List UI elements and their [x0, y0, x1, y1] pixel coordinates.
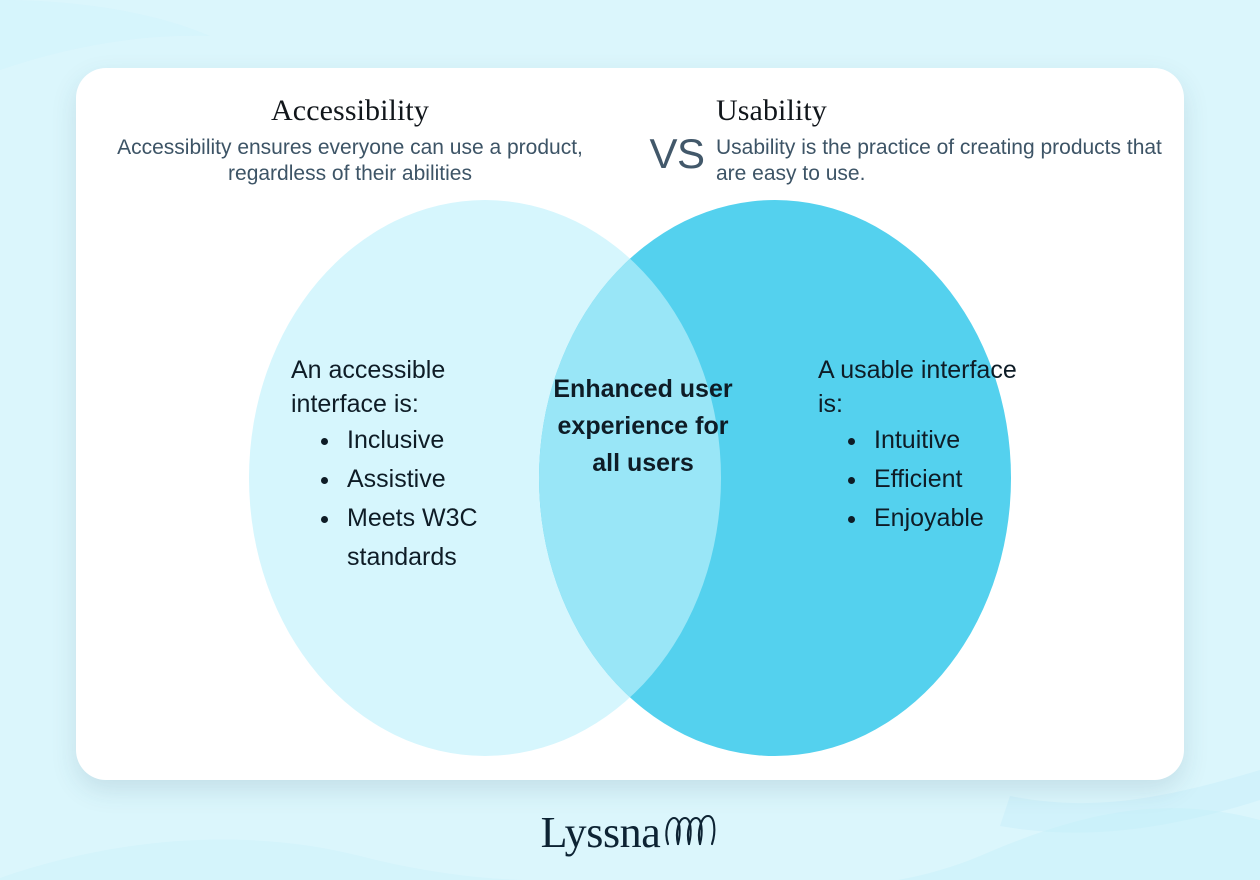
venn-left-lead: An accessible interface is:	[291, 353, 526, 421]
list-item: Inclusive	[321, 421, 526, 460]
list-item: Meets W3C standards	[321, 499, 526, 577]
venn-right-list: Intuitive Efficient Enjoyable	[818, 421, 1048, 538]
usability-title: Usability	[716, 94, 1184, 128]
header-column-accessibility: Accessibility Accessibility ensures ever…	[90, 94, 610, 187]
venn-overlap-content: Enhanced user experience for all users	[548, 371, 738, 482]
squiggle-mark-icon	[663, 811, 719, 858]
header-column-usability: Usability Usability is the practice of c…	[716, 94, 1184, 187]
content-card: Accessibility Accessibility ensures ever…	[76, 68, 1184, 780]
brand-name: Lyssna	[541, 811, 661, 855]
list-item: Assistive	[321, 460, 526, 499]
venn-left-list: Inclusive Assistive Meets W3C standards	[291, 421, 526, 577]
venn-right-lead: A usable interface is:	[818, 353, 1048, 421]
list-item: Enjoyable	[848, 499, 1048, 538]
usability-subtitle: Usability is the practice of creating pr…	[716, 135, 1184, 187]
list-item: Efficient	[848, 460, 1048, 499]
brand-logo: Lyssna	[0, 803, 1260, 863]
infographic-canvas: Accessibility Accessibility ensures ever…	[0, 0, 1260, 880]
venn-right-content: A usable interface is: Intuitive Efficie…	[818, 353, 1048, 538]
comparison-header: Accessibility Accessibility ensures ever…	[76, 68, 1184, 203]
venn-left-content: An accessible interface is: Inclusive As…	[291, 353, 526, 577]
accessibility-subtitle: Accessibility ensures everyone can use a…	[90, 135, 610, 187]
accessibility-title: Accessibility	[90, 94, 610, 128]
list-item: Intuitive	[848, 421, 1048, 460]
